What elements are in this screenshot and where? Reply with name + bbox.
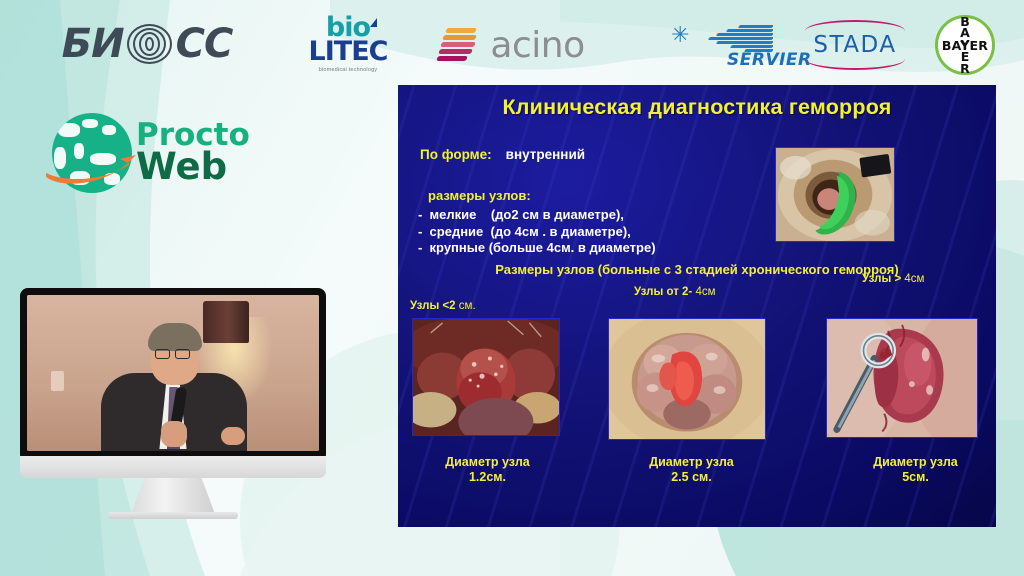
biolitec-litec-text: LITEC xyxy=(309,40,388,64)
hemorrhoid-photo-medium xyxy=(608,318,766,440)
desktop-monitor-frame xyxy=(20,288,326,510)
hemorrhoid-image-small xyxy=(413,319,559,435)
column-label-small-bold: Узлы <2 xyxy=(410,300,456,312)
column-caption-large: Диаметр узла 5см. xyxy=(828,455,996,485)
monitor-stand xyxy=(131,478,215,514)
slide-title: Клиническая диагностика геморроя xyxy=(398,95,996,120)
lamp-shade xyxy=(203,301,249,343)
hemorrhoid-image-large xyxy=(827,319,977,437)
speaker-hair xyxy=(148,323,202,351)
stada-arc-top-icon xyxy=(805,20,905,31)
hemorrhoid-image-medium xyxy=(609,319,765,439)
column-label-medium-rest: 4см xyxy=(692,286,715,298)
sizes-bullet-list: - мелкие (до2 см в диаметре), - средние … xyxy=(418,207,656,257)
servier-logo: ✳ SERVIER xyxy=(665,20,815,68)
anoscopy-image xyxy=(776,148,894,241)
bioss-logo: БИ СС xyxy=(42,20,252,68)
speaker-hand xyxy=(161,421,187,447)
bayer-logo: BAYER BAYER xyxy=(934,14,996,76)
column-label-large: Узлы > 4см xyxy=(862,273,924,285)
bioss-text-left: БИ xyxy=(62,24,124,64)
stada-text: STADA xyxy=(813,32,896,58)
sizes-heading: размеры узлов: xyxy=(428,188,531,203)
bayer-inner-circle: BAYER BAYER xyxy=(938,18,992,72)
biolitec-logo: bio LITEC biomedical technology xyxy=(300,16,396,74)
biolitec-triangle-icon xyxy=(370,18,377,27)
bayer-ring-icon: BAYER BAYER xyxy=(935,15,995,75)
wall-switch xyxy=(51,371,64,391)
column-label-small-rest: см. xyxy=(456,300,476,312)
bioss-text-right: СС xyxy=(176,24,233,64)
speaker-video[interactable] xyxy=(27,295,319,451)
hemorrhoid-photo-large xyxy=(826,318,978,438)
monitor-chin xyxy=(20,456,326,478)
acino-mark-icon xyxy=(436,24,484,66)
presentation-slide[interactable]: Клиническая диагностика геморроя По форм… xyxy=(398,85,996,527)
biolitec-bio-text: bio xyxy=(326,17,370,40)
stada-arc-bottom-icon xyxy=(805,59,905,70)
speaker-hand-right xyxy=(221,427,245,445)
sound-waves-icon xyxy=(124,24,176,64)
bayer-horizontal-text: BAYER xyxy=(942,38,988,53)
proctoweb-wordmark: Procto Web xyxy=(136,121,250,185)
biolitec-tagline: biomedical technology xyxy=(319,67,378,73)
column-caption-medium: Диаметр узла 2.5 см. xyxy=(604,455,779,485)
acino-logo: acino xyxy=(428,22,593,68)
column-label-medium-bold: Узлы от 2- xyxy=(634,286,692,298)
eyeglasses-icon xyxy=(155,349,195,359)
form-value: внутренний xyxy=(506,147,585,162)
acino-text: acino xyxy=(490,25,584,66)
servier-text: SERVIER xyxy=(727,50,812,70)
proctoweb-logo[interactable]: Procto Web xyxy=(48,100,263,205)
globe-icon xyxy=(48,107,140,199)
proctoweb-line2: Web xyxy=(136,150,250,185)
swoosh-icon xyxy=(44,151,142,187)
anoscopy-photo xyxy=(775,147,895,242)
column-label-medium: Узлы от 2- 4см xyxy=(634,286,716,298)
monitor-screen-bezel xyxy=(20,288,326,458)
column-label-large-rest: 4см xyxy=(901,273,924,285)
form-line: По форме:внутренний xyxy=(420,147,585,162)
stada-logo: STADA xyxy=(800,20,910,70)
hemorrhoid-photo-small xyxy=(412,318,560,436)
monitor-foot xyxy=(108,512,238,519)
sponsor-header: БИ СС bio LITEC biomedical technology ac… xyxy=(0,0,1024,88)
form-label: По форме: xyxy=(420,147,492,162)
column-label-small: Узлы <2 см. xyxy=(410,300,476,312)
column-label-large-bold: Узлы > xyxy=(862,273,901,285)
column-caption-small: Диаметр узла 1.2см. xyxy=(400,455,575,485)
